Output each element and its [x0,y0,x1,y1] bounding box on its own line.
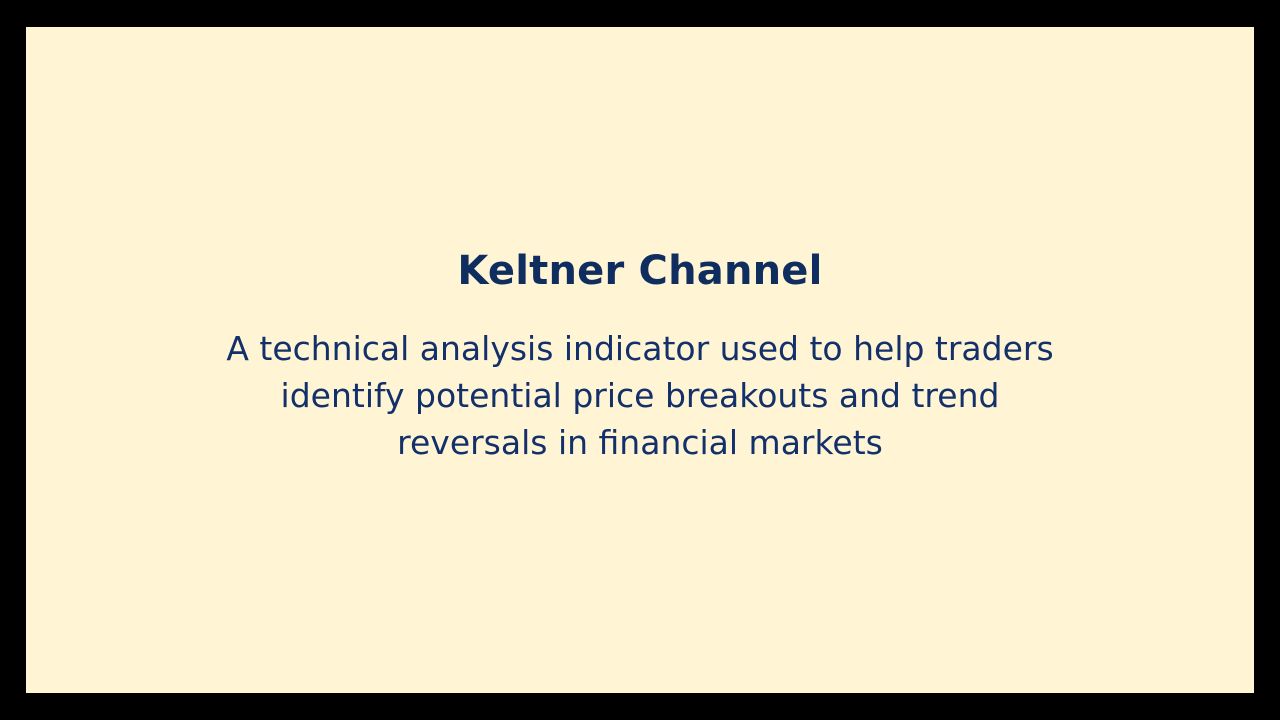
slide-description-text: A technical analysis indicator used to h… [190,325,1090,466]
page-title: Keltner Channel [190,247,1090,295]
slide-panel: Keltner Channel A technical analysis ind… [26,27,1254,693]
slide-content: Keltner Channel A technical analysis ind… [190,247,1090,466]
slide-frame: Keltner Channel A technical analysis ind… [0,0,1280,720]
